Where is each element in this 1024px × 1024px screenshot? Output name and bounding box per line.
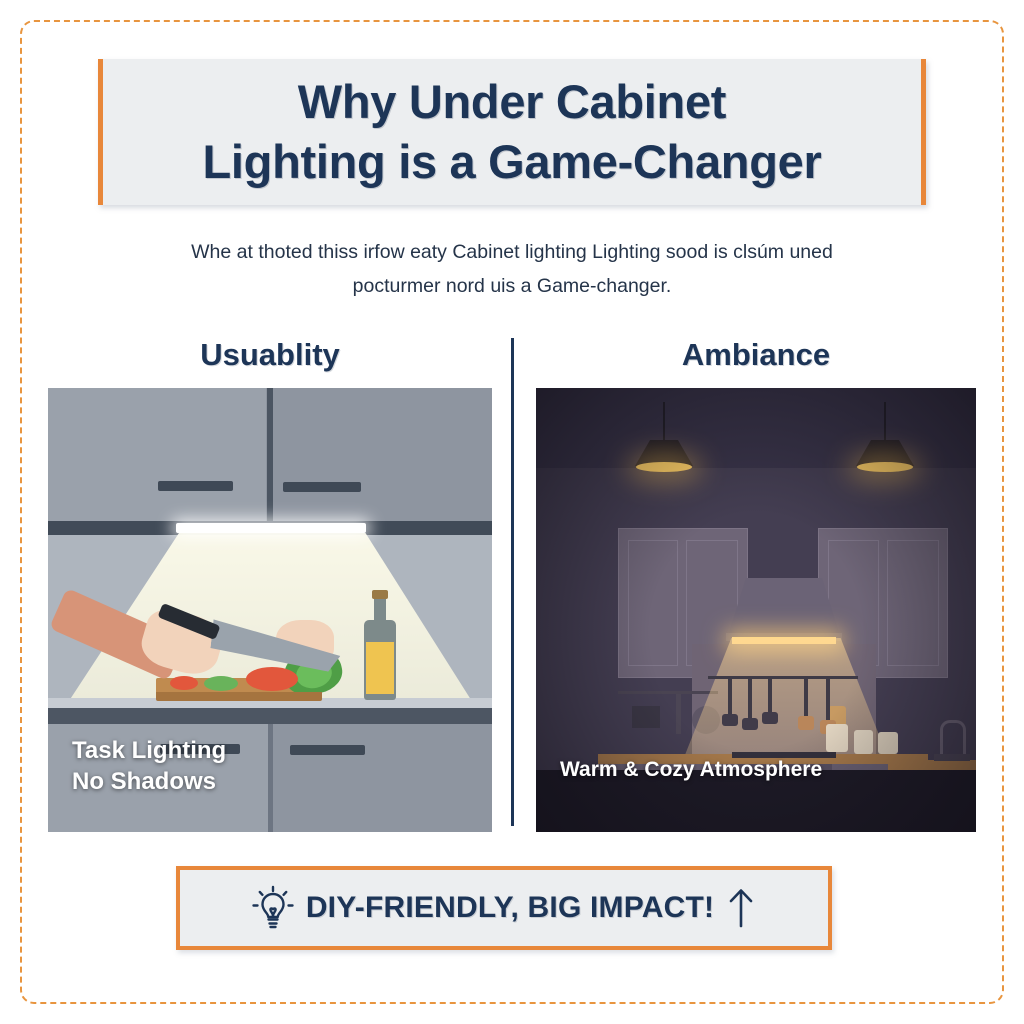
drawer-handle (290, 745, 365, 755)
upper-cabinet-right (270, 388, 492, 525)
hanging-utensil (804, 679, 808, 721)
utensil-head (742, 718, 758, 730)
led-strip-light (176, 523, 366, 533)
pendant-lamp-glow (857, 462, 913, 472)
tomato (246, 667, 298, 691)
cutting-board-edge (156, 692, 322, 701)
title-banner: Why Under Cabinet Lighting is a Game-Cha… (98, 59, 926, 205)
utensil-head (762, 712, 778, 724)
pendant-cord (884, 402, 886, 442)
hanging-utensil (748, 679, 752, 723)
hanging-spatula (676, 694, 681, 734)
column-heading-usability: Usuablity (48, 337, 492, 373)
utensil-head (798, 716, 814, 730)
subtitle-text: Whe at thoted thiss irfow eaty Cabinet l… (112, 236, 912, 303)
cta-banner-text: DIY-FRIENDLY, BIG IMPACT! (306, 891, 714, 925)
arrow-up-icon (726, 886, 756, 930)
infographic-poster: Why Under Cabinet Lighting is a Game-Cha… (0, 0, 1024, 1024)
panel-caption-usability: Task Lighting No Shadows (72, 735, 226, 798)
panel-ambiance-illustration: Warm & Cozy Atmosphere (536, 388, 976, 832)
cabinet-door-panel (628, 540, 678, 666)
ceiling-band (536, 388, 976, 468)
kitchen-sink (934, 754, 970, 761)
page-title: Why Under Cabinet Lighting is a Game-Cha… (193, 72, 832, 192)
pendant-cord (663, 402, 665, 442)
tomato-slice (170, 676, 198, 690)
wood-countertop-right (888, 760, 976, 770)
cabinet-door-panel (887, 540, 939, 666)
panel-usability-illustration: Task Lighting No Shadows (48, 388, 492, 832)
range-hood (728, 578, 840, 636)
oil-bottle-cap (372, 590, 388, 599)
counter-canister (826, 724, 848, 752)
sink-faucet (940, 720, 966, 757)
cabinet-seam (267, 388, 273, 525)
panel-caption-ambiance: Warm & Cozy Atmosphere (560, 756, 822, 784)
hanging-pan (632, 706, 660, 728)
pendant-lamp-glow (636, 462, 692, 472)
counter-canister (854, 730, 873, 754)
counter-canister (878, 732, 898, 754)
lightbulb-icon (252, 885, 294, 931)
cta-banner[interactable]: DIY-FRIENDLY, BIG IMPACT! (176, 866, 832, 950)
hanging-utensil (728, 679, 732, 719)
lower-cabinet-seam (268, 724, 273, 832)
hanging-utensil (826, 679, 830, 725)
upper-cabinet-left (48, 388, 266, 525)
column-heading-ambiance: Ambiance (536, 337, 976, 373)
cabinet-handle (158, 481, 233, 491)
column-divider (511, 338, 514, 826)
oil-bottle-label (366, 642, 394, 694)
counter-edge (48, 708, 492, 724)
side-utensil-rail (618, 691, 718, 694)
cucumber-slice (204, 676, 238, 691)
lower-cabinet-right (270, 724, 492, 832)
cabinet-handle (283, 482, 361, 492)
utensil-head (722, 714, 738, 726)
